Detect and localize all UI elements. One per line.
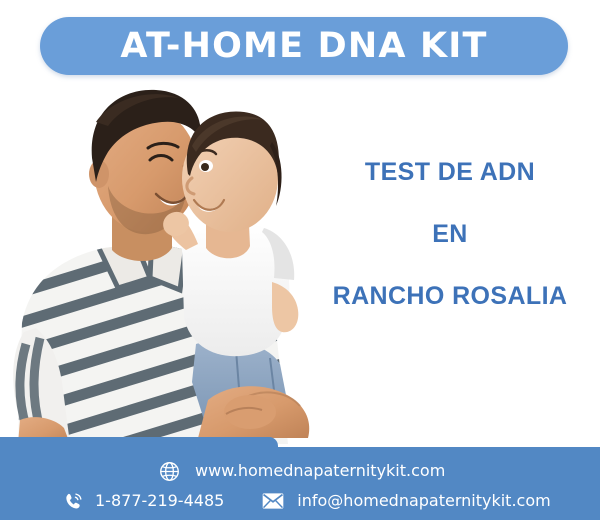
footer-content: www.homednapaternitykit.com 1-877-219-44… [0, 430, 600, 520]
father-and-child-photo [0, 82, 320, 444]
headline-line-2: EN [310, 222, 590, 247]
footer-bar: www.homednapaternitykit.com 1-877-219-44… [0, 430, 600, 520]
footer-website-row: www.homednapaternitykit.com [158, 460, 445, 482]
header-banner: AT-HOME DNA KIT [40, 17, 568, 75]
email-label: info@homednapaternitykit.com [297, 493, 550, 509]
phone-contact[interactable]: 1-877-219-4485 [62, 490, 224, 512]
phone-icon [62, 490, 84, 512]
globe-icon [158, 460, 180, 482]
headline-line-1: TEST DE ADN [310, 160, 590, 185]
email-contact[interactable]: info@homednapaternitykit.com [262, 490, 550, 512]
footer-phone-email-row: 1-877-219-4485 info@homednapaternitykit.… [62, 490, 551, 512]
headline-block: TEST DE ADN EN RANCHO ROSALIA [310, 160, 590, 309]
website-label: www.homednapaternitykit.com [195, 463, 445, 479]
phone-label: 1-877-219-4485 [95, 493, 224, 509]
envelope-icon [262, 490, 284, 512]
poster-canvas: AT-HOME DNA KIT [0, 0, 600, 520]
website-contact[interactable]: www.homednapaternitykit.com [158, 460, 445, 482]
banner-title: AT-HOME DNA KIT [120, 29, 487, 64]
headline-line-3: RANCHO ROSALIA [310, 284, 590, 309]
